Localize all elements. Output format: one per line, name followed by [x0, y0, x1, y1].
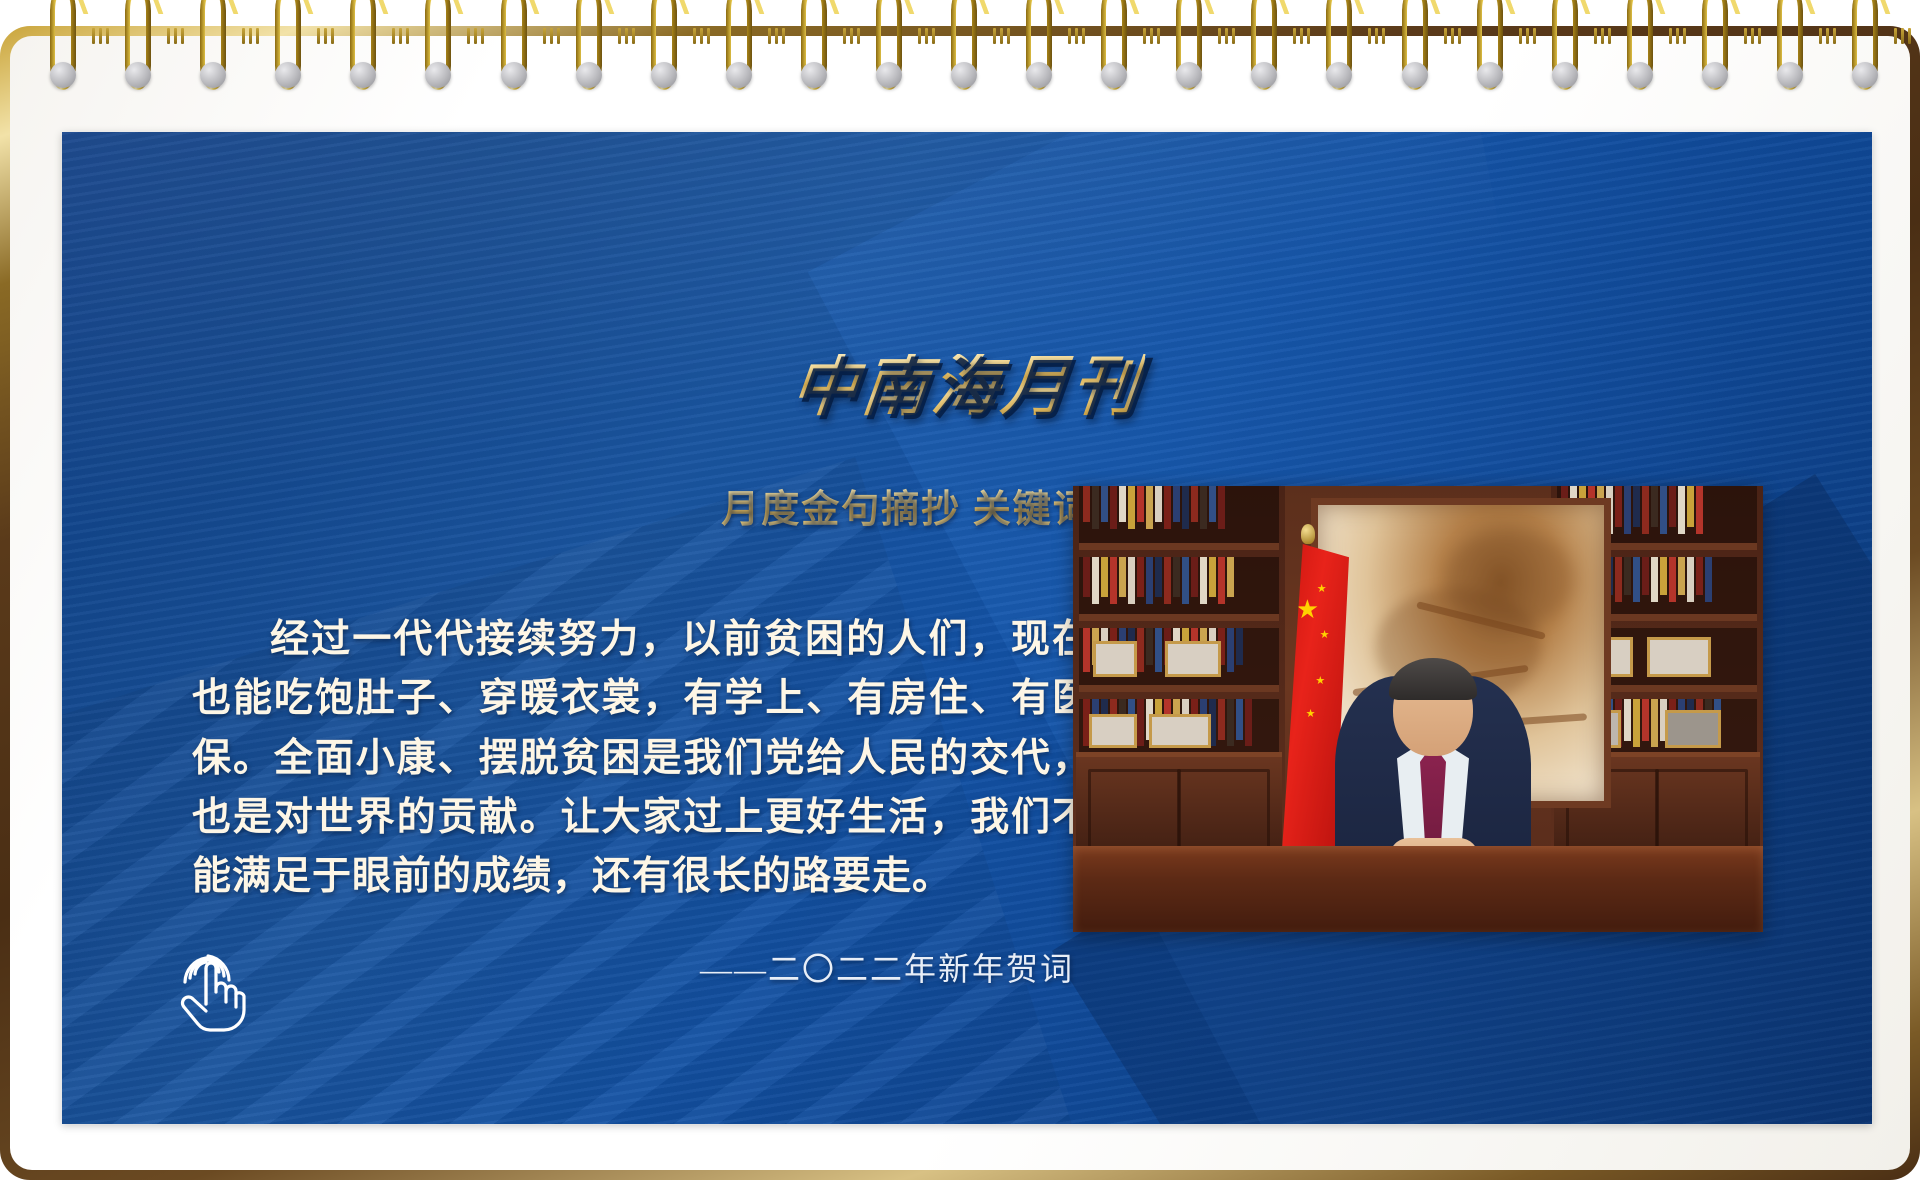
photo-book-spine	[1083, 486, 1090, 522]
photo-book-spine	[1705, 557, 1712, 602]
photo-book-spine	[1236, 628, 1243, 665]
photo-book-spine	[1164, 486, 1171, 529]
photo-book-spine	[1696, 486, 1703, 534]
photo-book-spine	[1218, 699, 1225, 740]
photo-book-spine	[1642, 486, 1649, 534]
photo-book-spine	[1083, 628, 1090, 672]
photo-desk	[1073, 846, 1763, 932]
photo-books	[1083, 557, 1234, 607]
spiral-ring-slant	[1634, 0, 1665, 14]
photo-picture-frame	[1647, 637, 1711, 677]
photo-books	[1083, 486, 1225, 536]
quote-block: 经过一代代接续努力，以前贫困的人们，现在也能吃饱肚子、穿暖衣裳，有学上、有房住、…	[192, 610, 1092, 990]
spiral-ring-slant	[133, 0, 164, 14]
quote-body-text: 经过一代代接续努力，以前贫困的人们，现在也能吃饱肚子、穿暖衣裳，有学上、有房住、…	[192, 610, 1092, 906]
slide-title-text: 中南海月刊	[789, 354, 1146, 420]
spiral-ring-slant	[1484, 0, 1515, 14]
slide-panel: 中南海月刊 月度金句摘抄 关键词：人民 经过一代代接续努力，以前贫困的人们，现在…	[62, 132, 1872, 1124]
photo-shelf	[1079, 628, 1279, 692]
spiral-ring-slant	[808, 0, 839, 14]
photo-bookcase-left	[1073, 486, 1285, 862]
spiral-ring-slant	[658, 0, 689, 14]
photo-book-spine	[1137, 628, 1144, 672]
photo-book-spine	[1218, 486, 1225, 529]
photo-book-spine	[1191, 486, 1198, 522]
photo-book-spine	[1182, 486, 1189, 529]
spiral-ring-slant	[1860, 0, 1891, 14]
photo-book-spine	[1687, 486, 1694, 527]
photo-book-spine	[1155, 628, 1162, 672]
photo-book-spine	[1227, 699, 1234, 746]
photo-book-spine	[1200, 557, 1207, 604]
photo-book-spine	[1696, 557, 1703, 595]
photo-book-spine	[1137, 486, 1144, 522]
notebook-gold-frame: 中南海月刊 月度金句摘抄 关键词：人民 经过一代代接续努力，以前贫困的人们，现在…	[0, 26, 1920, 1180]
photo-shelf	[1079, 557, 1279, 621]
photo-book-spine	[1615, 557, 1622, 602]
photo-picture-frame	[1165, 641, 1221, 677]
photo-book-spine	[1200, 486, 1207, 529]
slide-title: 中南海月刊	[62, 354, 1872, 420]
spiral-ring-slant	[208, 0, 239, 14]
photo-book-spine	[1227, 628, 1234, 672]
photo-book-spine	[1633, 699, 1640, 747]
photo-book-spine	[1660, 486, 1667, 534]
photo-book-spine	[1651, 699, 1658, 747]
photo-book-spine	[1209, 486, 1216, 522]
notebook-page: 中南海月刊 月度金句摘抄 关键词：人民 经过一代代接续努力，以前贫困的人们，现在…	[10, 36, 1910, 1170]
leader-new-year-address-photo: ★ ★ ★ ★ ★	[1073, 486, 1763, 932]
photo-book-spine	[1119, 486, 1126, 522]
photo-book-spine	[1669, 486, 1676, 527]
spiral-ring-slant	[433, 0, 464, 14]
photo-flag-finial	[1301, 524, 1315, 544]
spiral-ring-slant	[883, 0, 914, 14]
photo-book-spine	[1119, 557, 1126, 597]
tap-hand-icon[interactable]	[172, 944, 248, 1032]
photo-book-spine	[1101, 557, 1108, 597]
photo-book-spine	[1678, 486, 1685, 534]
photo-book-spine	[1642, 699, 1649, 741]
spiral-ring-slant	[283, 0, 314, 14]
photo-book-spine	[1642, 557, 1649, 595]
spiral-ring-slant	[959, 0, 990, 14]
spiral-ring-slant	[1334, 0, 1365, 14]
photo-book-spine	[1173, 557, 1180, 597]
spiral-ring-slant	[358, 0, 389, 14]
photo-book-spine	[1164, 557, 1171, 604]
spiral-ring-slant	[1559, 0, 1590, 14]
photo-picture-frame	[1665, 710, 1721, 748]
spiral-ring-slant	[733, 0, 764, 14]
photo-book-spine	[1137, 557, 1144, 597]
photo-book-spine	[1633, 486, 1640, 527]
photo-shelf	[1079, 486, 1279, 550]
spiral-ring-slant	[583, 0, 614, 14]
flag-star-small: ★	[1315, 676, 1325, 687]
photo-book-spine	[1146, 557, 1153, 604]
photo-book-spine	[1155, 486, 1162, 522]
photo-book-spine	[1687, 557, 1694, 602]
photo-book-spine	[1236, 699, 1243, 740]
photo-book-spine	[1092, 557, 1099, 604]
photo-book-spine	[1101, 486, 1108, 522]
photo-book-spine	[1245, 699, 1252, 746]
spiral-ring-slant	[508, 0, 539, 14]
photo-book-spine	[1633, 557, 1640, 602]
photo-book-spine	[1624, 486, 1631, 534]
photo-book-spine	[1146, 628, 1153, 665]
photo-book-spine	[1651, 486, 1658, 527]
photo-book-spine	[1137, 699, 1144, 746]
flag-star-small: ★	[1306, 709, 1316, 720]
photo-book-spine	[1615, 486, 1622, 527]
spiral-ring-slant	[58, 0, 89, 14]
photo-book-spine	[1128, 486, 1135, 529]
photo-book-spine	[1182, 557, 1189, 604]
photo-book-spine	[1092, 486, 1099, 529]
quote-attribution: ——二〇二二年新年贺词	[192, 944, 1092, 990]
photo-book-spine	[1678, 557, 1685, 595]
photo-book-spine	[1146, 486, 1153, 529]
photo-picture-frame	[1149, 714, 1211, 748]
photo-book-spine	[1083, 557, 1090, 597]
photo-book-spine	[1218, 557, 1225, 604]
photo-book-spine	[1191, 557, 1198, 597]
photo-book-spine	[1110, 486, 1117, 529]
flag-star-large: ★	[1296, 597, 1319, 623]
photo-book-spine	[1110, 557, 1117, 604]
spiral-ring-slant	[1259, 0, 1290, 14]
photo-picture-frame	[1093, 641, 1137, 677]
photo-book-spine	[1624, 699, 1631, 741]
spiral-ring-slant	[1184, 0, 1215, 14]
photo-picture-frame	[1089, 714, 1137, 748]
photo-book-spine	[1227, 557, 1234, 597]
photo-book-spine	[1651, 557, 1658, 602]
spiral-ring-slant	[1784, 0, 1815, 14]
flag-star-small: ★	[1317, 584, 1327, 595]
photo-book-spine	[1660, 557, 1667, 595]
spiral-ring-slant	[1109, 0, 1140, 14]
spiral-ring-slant	[1709, 0, 1740, 14]
photo-book-spine	[1173, 486, 1180, 522]
photo-book-spine	[1209, 557, 1216, 597]
photo-book-spine	[1624, 557, 1631, 595]
photo-book-spine	[1155, 557, 1162, 597]
photo-book-spine	[1128, 557, 1135, 604]
flag-star-small: ★	[1320, 630, 1330, 641]
spiral-ring-slant	[1409, 0, 1440, 14]
spiral-ring-slant	[1034, 0, 1065, 14]
photo-book-spine	[1669, 557, 1676, 602]
